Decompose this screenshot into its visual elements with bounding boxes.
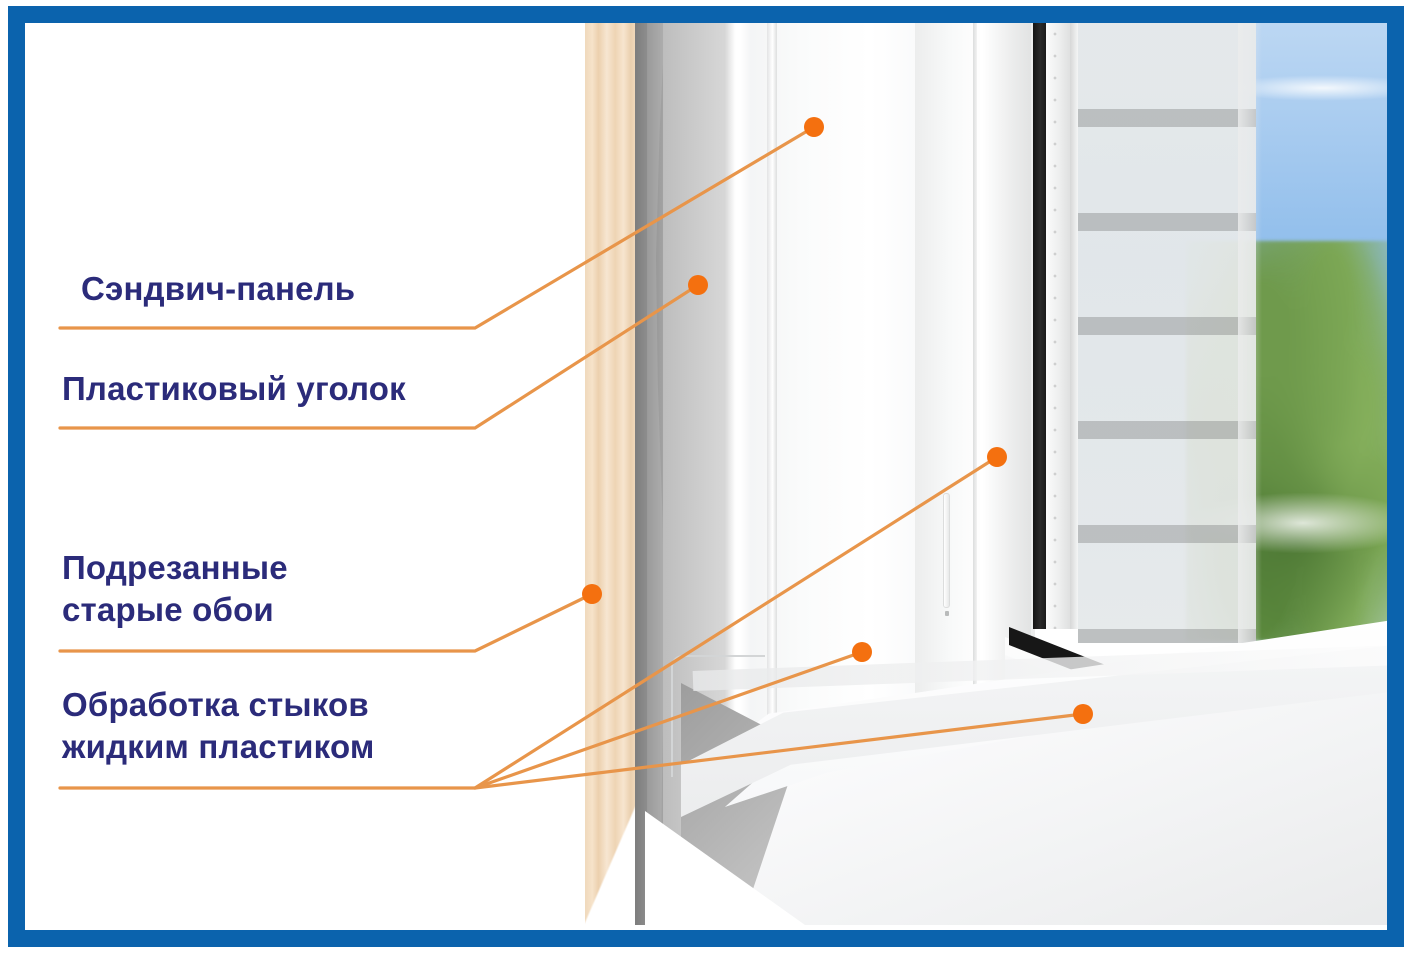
sash-bead-inner xyxy=(1070,23,1078,629)
glass-pane xyxy=(1078,23,1387,643)
glazing-seal xyxy=(1033,23,1046,629)
wallpaper-cut-corner xyxy=(585,805,637,925)
photo-canvas xyxy=(585,23,1387,925)
jamb-groove xyxy=(973,23,977,743)
callout-label-plastic-corner: Пластиковый уголок xyxy=(62,368,406,410)
callout-label-joint-liquid-plastic: Обработка стыков жидким пластиком xyxy=(62,684,374,768)
figure-root: Сэндвич-панель Пластиковый уголок Подрез… xyxy=(0,0,1421,970)
figure-canvas: Сэндвич-панель Пластиковый уголок Подрез… xyxy=(25,23,1387,930)
sill-bracket-outline xyxy=(671,655,765,777)
window-photo xyxy=(577,23,1387,930)
sash-spacer-perforation xyxy=(1051,23,1059,629)
blinds xyxy=(1078,23,1256,643)
jamb-latch-screw xyxy=(945,611,949,616)
jamb-latch xyxy=(943,493,950,608)
callout-label-sandwich-panel: Сэндвич-панель xyxy=(81,268,355,310)
blinds-edge-fade xyxy=(1238,23,1262,643)
blue-border-frame: Сэндвич-панель Пластиковый уголок Подрез… xyxy=(8,6,1404,947)
wallpaper-strip xyxy=(585,23,637,925)
callout-label-old-wallpaper: Подрезанные старые обои xyxy=(62,547,288,631)
